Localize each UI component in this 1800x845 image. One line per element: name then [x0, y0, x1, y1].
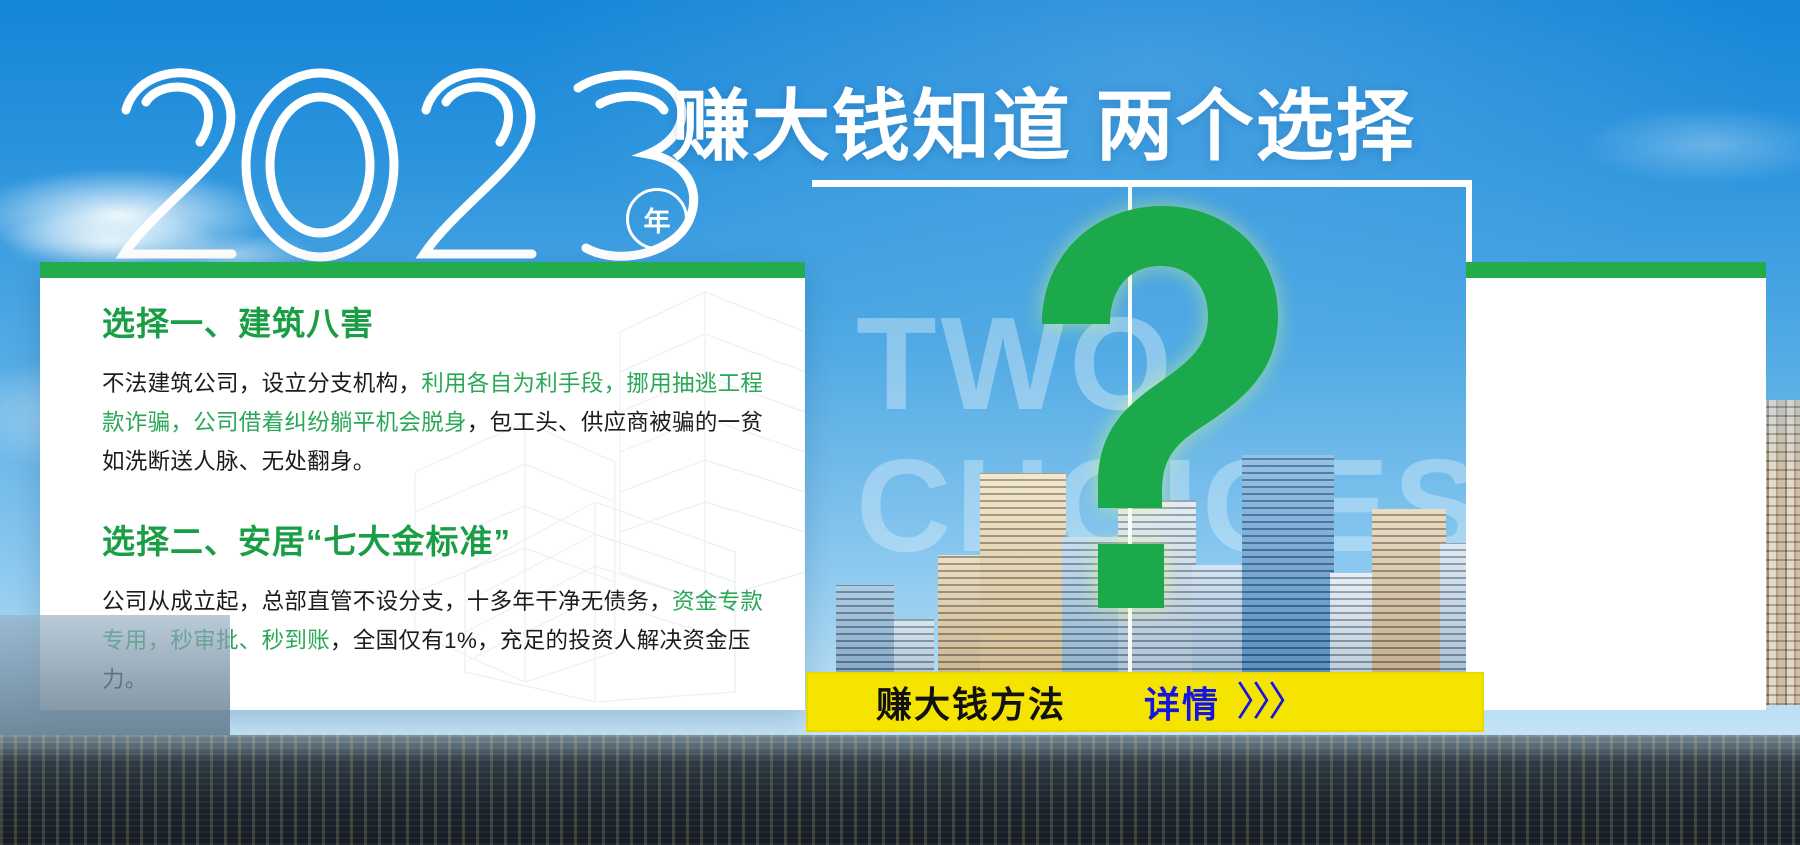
- poster-canvas: TWO CHOICES: [0, 0, 1800, 845]
- cta-label: 赚大钱方法: [876, 676, 1066, 728]
- card-section-one: 选择一、建筑八害 不法建筑公司，设立分支机构，利用各自为利手段，挪用抽逃工程款诈…: [40, 262, 805, 481]
- question-mark-icon: [1002, 196, 1292, 616]
- body-part-plain: 公司从成立起，总部直管不设分支，十多年干净无债务，: [102, 589, 672, 614]
- headline-underline: [812, 180, 1472, 187]
- cta-action-link[interactable]: 详情: [1144, 676, 1220, 728]
- bridge-decoration: [0, 615, 230, 735]
- cta-bar[interactable]: 赚大钱方法 详情 〉〉〉: [806, 672, 1484, 732]
- body-part-plain: 不法建筑公司，设立分支机构，: [102, 371, 421, 396]
- waterfront-strip: [0, 735, 1800, 845]
- chevron-right-icon: 〉〉〉: [1236, 682, 1304, 722]
- section-one-title: 选择一、建筑八害: [102, 306, 805, 342]
- section-two-title: 选择二、安居“七大金标准”: [102, 524, 774, 560]
- year-unit-label: 年: [644, 200, 671, 239]
- right-panel: [1466, 262, 1766, 710]
- year-unit-badge: 年: [626, 188, 688, 250]
- section-one-body: 不法建筑公司，设立分支机构，利用各自为利手段，挪用抽逃工程款诈骗，公司借着纠纷躺…: [102, 364, 774, 481]
- card-green-top-bar: [40, 262, 805, 278]
- page-title: 赚大钱知道 两个选择: [672, 76, 1492, 176]
- right-panel-green-bar: [1466, 262, 1766, 278]
